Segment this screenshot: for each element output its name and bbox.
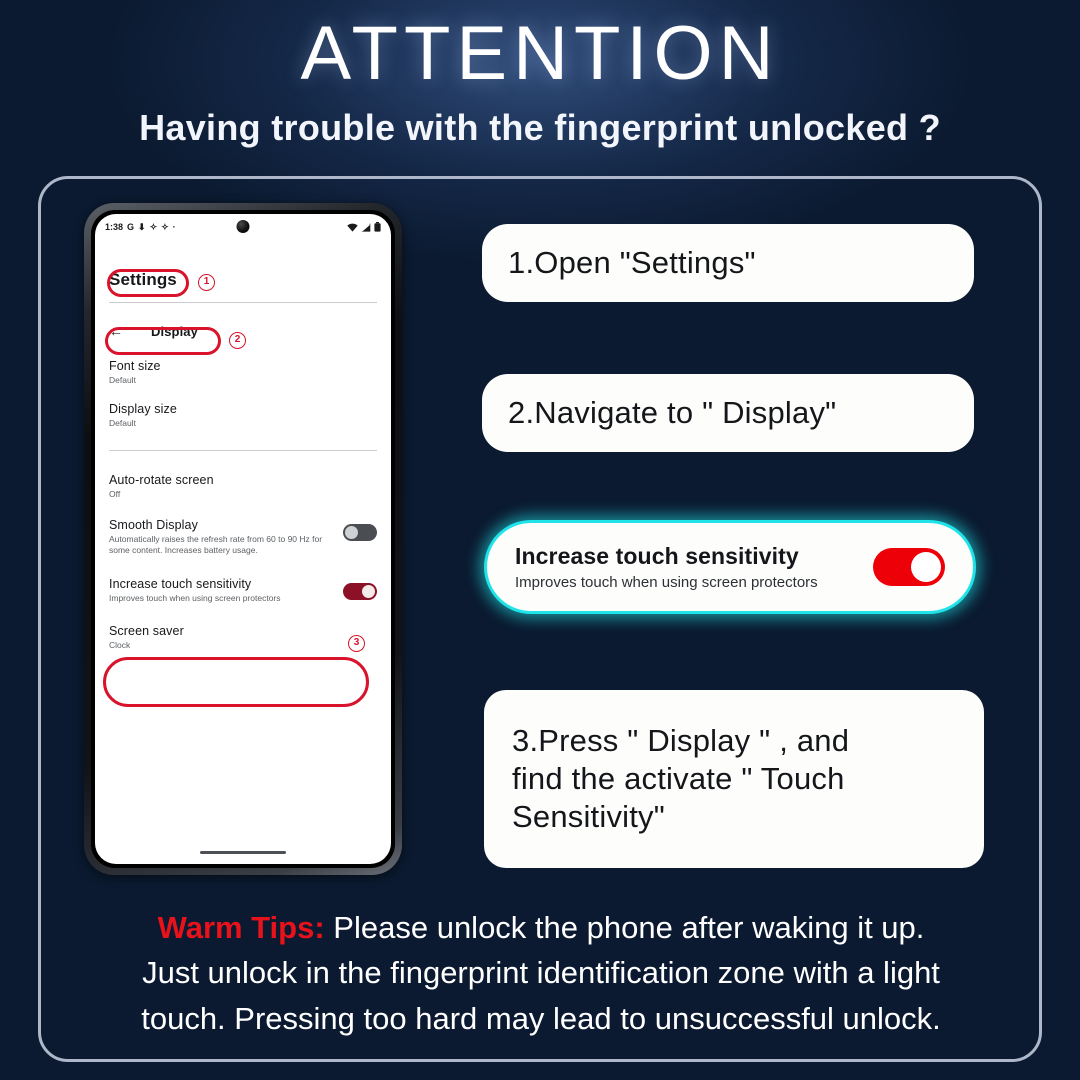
status-bar-left: 1:38 G ⬇ ✧ ✧ ·: [105, 222, 176, 232]
row-increase-touch-sensitivity[interactable]: Increase touch sensitivity Improves touc…: [109, 577, 377, 604]
wifi-icon: [347, 223, 358, 232]
row-screen-saver[interactable]: Screen saver Clock: [109, 624, 377, 651]
divider: [109, 450, 377, 451]
divider: [109, 302, 377, 303]
settings-app-title: Settings: [109, 270, 177, 289]
row-auto-rotate[interactable]: Auto-rotate screen Off: [109, 473, 377, 500]
row-smooth-display-title: Smooth Display: [109, 518, 333, 532]
status-bar-right: [347, 222, 381, 232]
row-touch-sensitivity-sub: Improves touch when using screen protect…: [109, 593, 333, 604]
row-smooth-display[interactable]: Smooth Display Automatically raises the …: [109, 518, 377, 555]
toggle-knob: [911, 552, 941, 582]
row-auto-rotate-sub: Off: [109, 489, 377, 500]
row-font-size-title: Font size: [109, 359, 377, 373]
touch-sensitivity-card-texts: Increase touch sensitivity Improves touc…: [515, 543, 873, 591]
touch-sensitivity-card-title: Increase touch sensitivity: [515, 543, 873, 570]
google-g-icon: G: [127, 223, 134, 232]
row-smooth-display-sub: Automatically raises the refresh rate fr…: [109, 534, 333, 555]
warm-tips-line-1: Warm Tips: Please unlock the phone after…: [56, 905, 1026, 950]
row-font-size-sub: Default: [109, 375, 377, 386]
smooth-display-toggle[interactable]: [343, 524, 377, 541]
step-1-text: 1.Open "Settings": [508, 244, 756, 282]
warm-tips-line-3: touch. Pressing too hard may lead to uns…: [56, 996, 1026, 1041]
settings-gear-icon: ✧: [161, 223, 169, 232]
settings-app-title-row[interactable]: Settings: [109, 270, 377, 292]
row-font-size[interactable]: Font size Default: [109, 359, 377, 386]
camera-punch-hole: [237, 220, 250, 233]
step-3-line-1: 3.Press " Display " , and: [512, 722, 849, 760]
step-2-text: 2.Navigate to " Display": [508, 394, 836, 432]
row-auto-rotate-title: Auto-rotate screen: [109, 473, 377, 487]
header: ATTENTION Having trouble with the finger…: [0, 0, 1080, 146]
warm-tips-line-2: Just unlock in the fingerprint identific…: [56, 950, 1026, 995]
row-touch-sensitivity-title: Increase touch sensitivity: [109, 577, 333, 591]
phone-mockup: 1:38 G ⬇ ✧ ✧ ·: [84, 203, 402, 875]
step-1-callout: 1.Open "Settings": [482, 224, 974, 302]
touch-sensitivity-toggle[interactable]: [343, 583, 377, 600]
dot-icon: ·: [173, 223, 176, 232]
warm-tips-label: Warm Tips:: [158, 910, 325, 945]
phone-screen: 1:38 G ⬇ ✧ ✧ ·: [95, 214, 391, 864]
step-2-callout: 2.Navigate to " Display": [482, 374, 974, 452]
status-bar: 1:38 G ⬇ ✧ ✧ ·: [95, 214, 391, 240]
annotation-number-2: 2: [229, 332, 246, 349]
status-time: 1:38: [105, 222, 123, 232]
step-3-callout: 3.Press " Display " , and find the activ…: [484, 690, 984, 868]
warm-tips-text-1: Please unlock the phone after waking it …: [325, 910, 925, 945]
page-subtitle: Having trouble with the fingerprint unlo…: [0, 110, 1080, 146]
row-display-size-sub: Default: [109, 418, 377, 429]
touch-sensitivity-highlight-card: Increase touch sensitivity Improves touc…: [484, 520, 976, 614]
step-3-line-3: Sensitivity": [512, 798, 849, 836]
row-screen-saver-sub: Clock: [109, 640, 377, 651]
display-page-title: Display: [151, 324, 198, 339]
battery-icon: [374, 222, 381, 232]
annotation-number-3: 3: [348, 635, 365, 652]
page-title: ATTENTION: [0, 16, 1080, 92]
row-display-size[interactable]: Display size Default: [109, 402, 377, 429]
annotation-oval-touch-sensitivity: [103, 657, 369, 707]
download-icon: ⬇: [138, 223, 146, 232]
home-indicator: [200, 851, 286, 854]
annotation-number-1: 1: [198, 274, 215, 291]
row-display-size-title: Display size: [109, 402, 377, 416]
sync-icon: ✧: [150, 223, 158, 232]
step-3-line-2: find the activate " Touch: [512, 760, 849, 798]
warm-tips: Warm Tips: Please unlock the phone after…: [56, 905, 1026, 1041]
settings-list: Settings ← Display Font size Default Dis…: [95, 240, 391, 650]
touch-sensitivity-card-toggle[interactable]: [873, 548, 945, 586]
back-arrow-icon[interactable]: ←: [109, 324, 123, 338]
row-screen-saver-title: Screen saver: [109, 624, 377, 638]
phone-bezel: 1:38 G ⬇ ✧ ✧ ·: [91, 210, 395, 868]
signal-icon: [361, 223, 371, 232]
touch-sensitivity-card-sub: Improves touch when using screen protect…: [515, 574, 873, 591]
